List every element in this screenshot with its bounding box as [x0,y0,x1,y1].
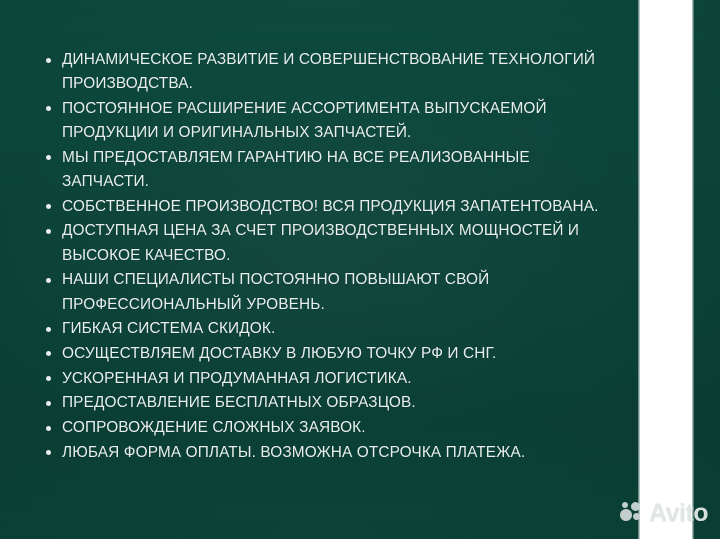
bullet-item: ПОСТОЯННОЕ РАСШИРЕНИЕ АССОРТИМЕНТА ВЫПУС… [40,97,610,145]
bullet-text: ПРЕДОСТАВЛЕНИЕ БЕСПЛАТНЫХ ОБРАЗЦОВ. [62,391,610,415]
bullet-dot-icon [46,401,51,406]
bullet-text: МЫ ПРЕДОСТАВЛЯЕМ ГАРАНТИЮ НА ВСЕ РЕАЛИЗО… [62,146,610,194]
bullet-text: ДОСТУПНАЯ ЦЕНА ЗА СЧЕТ ПРОИЗВОДСТВЕННЫХ … [62,219,610,267]
bullet-item: ЛЮБАЯ ФОРМА ОПЛАТЫ. ВОЗМОЖНА ОТСРОЧКА ПЛ… [40,441,610,465]
bullet-item: ОСУЩЕСТВЛЯЕМ ДОСТАВКУ В ЛЮБУЮ ТОЧКУ РФ И… [40,342,610,366]
bullet-dot-icon [46,450,51,455]
bullet-item: СОПРОВОЖДЕНИЕ СЛОЖНЫХ ЗАЯВОК. [40,416,610,440]
bullet-dot-icon [46,229,51,234]
advantages-bullet-list: ДИНАМИЧЕСКОЕ РАЗВИТИЕ И СОВЕРШЕНСТВОВАНИ… [40,48,610,465]
bullet-dot-icon [46,204,51,209]
slide-canvas: ДИНАМИЧЕСКОЕ РАЗВИТИЕ И СОВЕРШЕНСТВОВАНИ… [0,0,720,539]
bullet-dot-icon [46,426,51,431]
white-stripe-right-edge [692,0,694,539]
bullet-text: ДИНАМИЧЕСКОЕ РАЗВИТИЕ И СОВЕРШЕНСТВОВАНИ… [62,48,610,96]
bullet-text: СОБСТВЕННОЕ ПРОИЗВОДСТВО! ВСЯ ПРОДУКЦИЯ … [62,195,610,219]
white-accent-stripe [640,0,692,539]
bullet-item: ДОСТУПНАЯ ЦЕНА ЗА СЧЕТ ПРОИЗВОДСТВЕННЫХ … [40,219,610,267]
bullet-text: ГИБКАЯ СИСТЕМА СКИДОК. [62,317,610,341]
bullet-text: УСКОРЕННАЯ И ПРОДУМАННАЯ ЛОГИСТИКА. [62,367,610,391]
avito-watermark: Avito [620,498,714,528]
bullet-item: ГИБКАЯ СИСТЕМА СКИДОК. [40,317,610,341]
bullet-item: НАШИ СПЕЦИАЛИСТЫ ПОСТОЯННО ПОВЫШАЮТ СВОЙ… [40,268,610,316]
bullet-text: ЛЮБАЯ ФОРМА ОПЛАТЫ. ВОЗМОЖНА ОТСРОЧКА ПЛ… [62,441,610,465]
bullet-text: СОПРОВОЖДЕНИЕ СЛОЖНЫХ ЗАЯВОК. [62,416,610,440]
bullet-item: СОБСТВЕННОЕ ПРОИЗВОДСТВО! ВСЯ ПРОДУКЦИЯ … [40,195,610,219]
bullet-item: ПРЕДОСТАВЛЕНИЕ БЕСПЛАТНЫХ ОБРАЗЦОВ. [40,391,610,415]
bullet-dot-icon [46,327,51,332]
bullet-dot-icon [46,278,51,283]
bullet-dot-icon [46,351,51,356]
bullet-item: УСКОРЕННАЯ И ПРОДУМАННАЯ ЛОГИСТИКА. [40,367,610,391]
avito-dots-icon [620,500,646,526]
avito-wordmark: Avito [649,500,708,526]
bullet-dot-icon [46,58,51,63]
bullet-item: МЫ ПРЕДОСТАВЛЯЕМ ГАРАНТИЮ НА ВСЕ РЕАЛИЗО… [40,146,610,194]
bullet-dot-icon [46,376,51,381]
bullet-dot-icon [46,155,51,160]
bullet-dot-icon [46,106,51,111]
bullet-text: ПОСТОЯННОЕ РАСШИРЕНИЕ АССОРТИМЕНТА ВЫПУС… [62,97,610,145]
bullet-item: ДИНАМИЧЕСКОЕ РАЗВИТИЕ И СОВЕРШЕНСТВОВАНИ… [40,48,610,96]
bullet-text: ОСУЩЕСТВЛЯЕМ ДОСТАВКУ В ЛЮБУЮ ТОЧКУ РФ И… [62,342,610,366]
bullet-text: НАШИ СПЕЦИАЛИСТЫ ПОСТОЯННО ПОВЫШАЮТ СВОЙ… [62,268,610,316]
